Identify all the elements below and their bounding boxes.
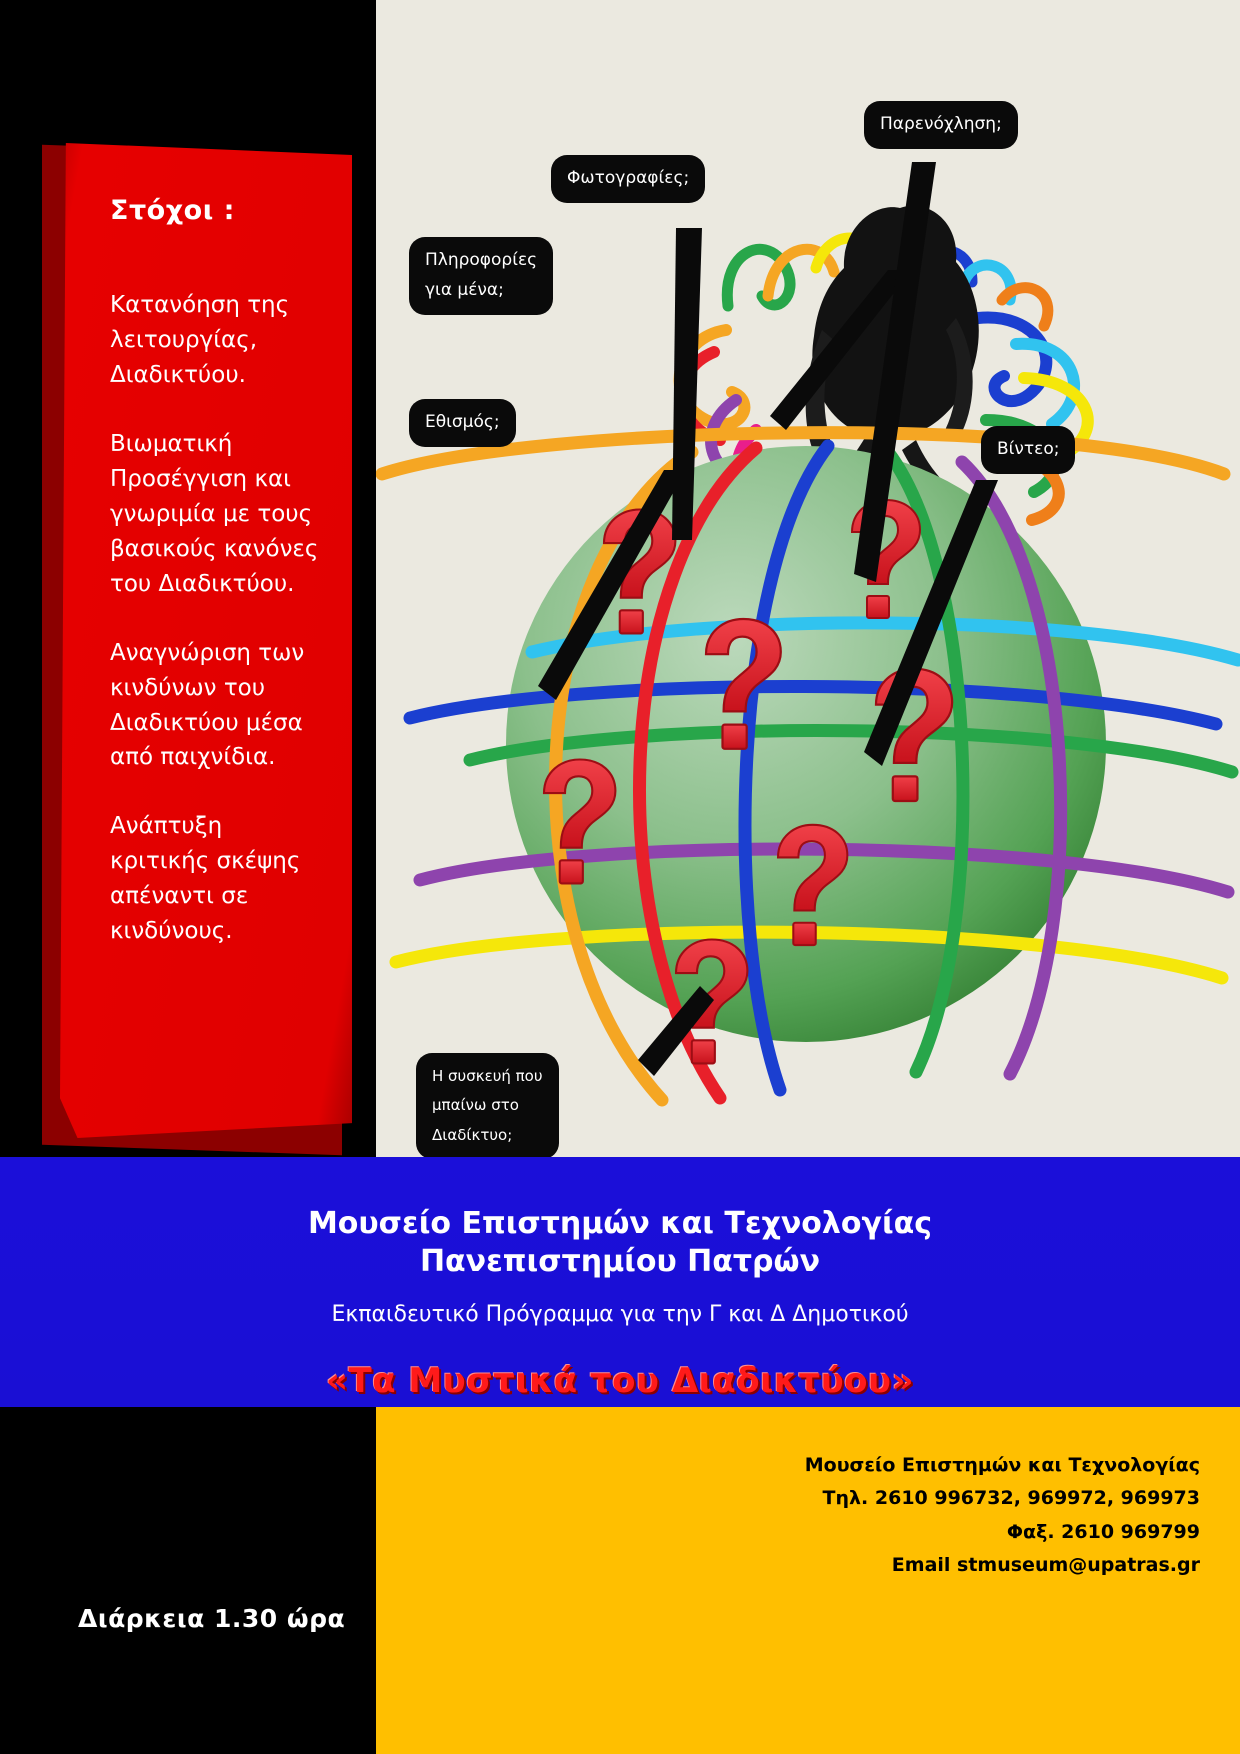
pointer-addiction [538,470,686,700]
bubble-pointers [376,0,1240,1157]
bubble-video[interactable]: Βίντεο; [981,426,1075,474]
organisation-line-1: Μουσείο Επιστημών και Τεχνολογίας [0,1157,1240,1243]
pointer-device [638,986,714,1076]
duration-label: Διάρκεια 1.30 ώρα [78,1604,345,1633]
program-title: «Τα Μυστικά του Διαδικτύου» [0,1361,1240,1401]
illustration-stage: Παρενόχληση; Φωτογραφίες; Πληροφορίες γι… [376,0,1240,1157]
bubble-photos[interactable]: Φωτογραφίες; [551,155,705,203]
bubble-info-about-me[interactable]: Πληροφορίες για μένα; [409,237,553,315]
program-subtitle: Εκπαιδευτικό Πρόγραμμα για την Γ και Δ Δ… [0,1302,1240,1327]
goals-title: Στόχοι : [110,195,328,226]
contact-box: Μουσείο Επιστημών και Τεχνολογίας Τηλ. 2… [376,1407,1240,1754]
contact-email: Email stmuseum@upatras.gr [376,1549,1200,1582]
organisation-line-2: Πανεπιστημίου Πατρών [0,1243,1240,1281]
pointer-photos [672,228,702,540]
poster-root: Παρενόχληση; Φωτογραφίες; Πληροφορίες γι… [0,0,1240,1754]
goal-item: Αναγνώριση των κινδύνων του Διαδικτύου μ… [110,636,328,776]
goal-item: Κατανόηση της λειτουργίας, Διαδικτύου. [110,288,328,393]
contact-name: Μουσείο Επιστημών και Τεχνολογίας [376,1449,1200,1482]
goal-item: Ανάπτυξη κριτικής σκέψης απέναντι σε κιν… [110,809,328,949]
goals-panel: Στόχοι : Κατανόηση της λειτουργίας, Διαδ… [60,143,352,1138]
footer-blue-band: Μουσείο Επιστημών και Τεχνολογίας Πανεπι… [0,1157,1240,1407]
bubble-device[interactable]: Η συσκευή που μπαίνω στο Διαδίκτυο; [416,1053,559,1157]
contact-phone: Τηλ. 2610 996732, 969972, 969973 [376,1482,1200,1515]
bubble-harassment[interactable]: Παρενόχληση; [864,101,1018,149]
contact-fax: Φαξ. 2610 969799 [376,1516,1200,1549]
goal-item: Βιωματική Προσέγγιση και γνωριμία με του… [110,427,328,602]
pointer-harassment [854,162,936,582]
bubble-addiction[interactable]: Εθισμός; [409,399,516,447]
